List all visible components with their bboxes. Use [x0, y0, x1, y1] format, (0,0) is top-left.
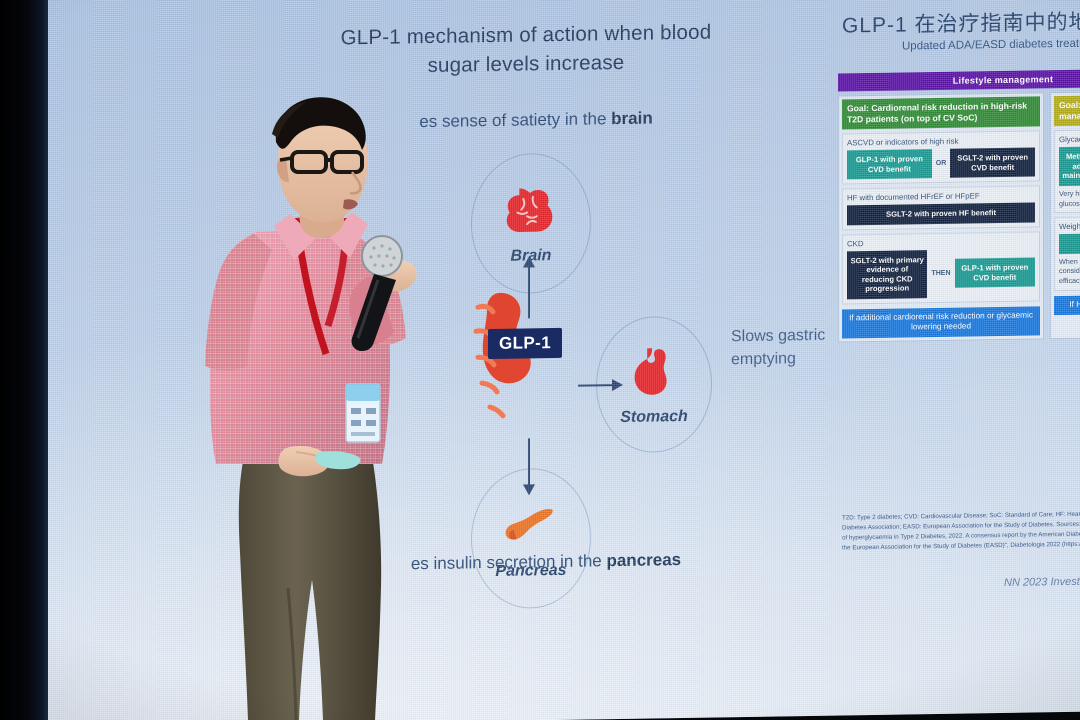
- section-ckd: CKD SGLT-2 with primary evidence of redu…: [842, 231, 1040, 304]
- guideline-flowchart: Lifestyle management Goal: Cardiorenal r…: [838, 68, 1080, 342]
- room-dark-edge: [0, 0, 48, 720]
- section-hf-title: HF with documented HFrEF or HFpEF: [847, 191, 1035, 203]
- slide-right-footnote: T2D: Type 2 diabetes; CVD: Cardiovascula…: [842, 508, 1080, 553]
- stomach-icon: [623, 342, 685, 405]
- brain-icon: [500, 181, 562, 244]
- arrow-to-pancreas-line: [528, 438, 530, 486]
- column-a-blue-bar: If additional cardiorenal risk reduction…: [842, 306, 1040, 338]
- section-hf: HF with documented HFrEF or HFpEF SGLT-2…: [842, 186, 1040, 231]
- box-metformin: Metformin or agent with adequate efficac…: [1059, 146, 1080, 186]
- column-b-blue-bar: If HbA1c above target: [1054, 294, 1080, 314]
- section-ascvd: ASCVD or indicators of high risk GLP-1 w…: [842, 131, 1040, 185]
- section-glycaemic: Glycaemic management Metformin or agent …: [1054, 129, 1080, 214]
- brain-caption-bold: brain: [611, 108, 653, 128]
- photo-scene: GLP-1 mechanism of action when blood sug…: [0, 0, 1080, 720]
- guideline-column-cardiorenal: Goal: Cardiorenal risk reduction in high…: [838, 92, 1044, 342]
- column-b-goal: Goal: HbA1c and weight management: [1054, 94, 1080, 126]
- section-ascvd-title: ASCVD or indicators of high risk: [847, 136, 1035, 148]
- organ-stomach-label: Stomach: [620, 408, 688, 427]
- slide-left-title: GLP-1 mechanism of action when blood sug…: [316, 17, 736, 82]
- speaker-trousers: [239, 456, 381, 720]
- note-weight: When choosing agents, consider regimen; …: [1059, 255, 1080, 286]
- slide-right-guideline: 的基础 GLP-1 在治疗指南中的地位 Updated ADA/EASD dia…: [794, 0, 1080, 644]
- speaker-person: [168, 96, 498, 720]
- section-weight-title: Weight management: [1059, 221, 1080, 232]
- deck-label: NN 2023 Investor presentation: [1004, 575, 1080, 589]
- box-glp1-cvd-then: GLP-1 with proven CVD benefit: [955, 258, 1035, 288]
- box-semaglutide: Semaglutide: [1059, 233, 1080, 254]
- glp1-badge: GLP-1: [488, 328, 562, 359]
- slide-right-subtitle: Updated ADA/EASD diabetes treatment guid…: [902, 37, 1080, 53]
- arrow-to-pancreas-head: [523, 484, 535, 495]
- box-glp1-cvd: GLP-1 with proven CVD benefit: [847, 149, 932, 179]
- box-sglt2-cvd: SGLT-2 with proven CVD benefit: [950, 148, 1035, 178]
- slide-right-title: GLP-1 在治疗指南中的地位: [842, 5, 1080, 39]
- lifestyle-management-bar: Lifestyle management: [838, 68, 1080, 91]
- guideline-column-hba1c: Goal: HbA1c and weight management Glycae…: [1050, 90, 1080, 339]
- box-sglt2-ckd: SGLT-2 with primary evidence of reducing…: [847, 250, 927, 299]
- section-weight: Weight management Semaglutide When choos…: [1054, 216, 1080, 291]
- speaker-badge: [346, 384, 380, 442]
- arrow-to-brain-head: [523, 256, 535, 267]
- pancreas-caption-bold: pancreas: [606, 550, 681, 570]
- note-glycaemic: Very high glycaemic efficacy: glucose lo…: [1059, 187, 1080, 208]
- section-glycaemic-title: Glycaemic management: [1059, 134, 1080, 145]
- arrow-to-stomach-head: [612, 379, 623, 391]
- section-ckd-title: CKD: [847, 236, 1035, 248]
- box-sglt2-hf: SGLT-2 with proven HF benefit: [847, 203, 1035, 225]
- conjunction-then: THEN: [931, 270, 950, 277]
- conjunction-or: OR: [936, 160, 947, 167]
- column-a-goal: Goal: Cardiorenal risk reduction in high…: [842, 96, 1040, 129]
